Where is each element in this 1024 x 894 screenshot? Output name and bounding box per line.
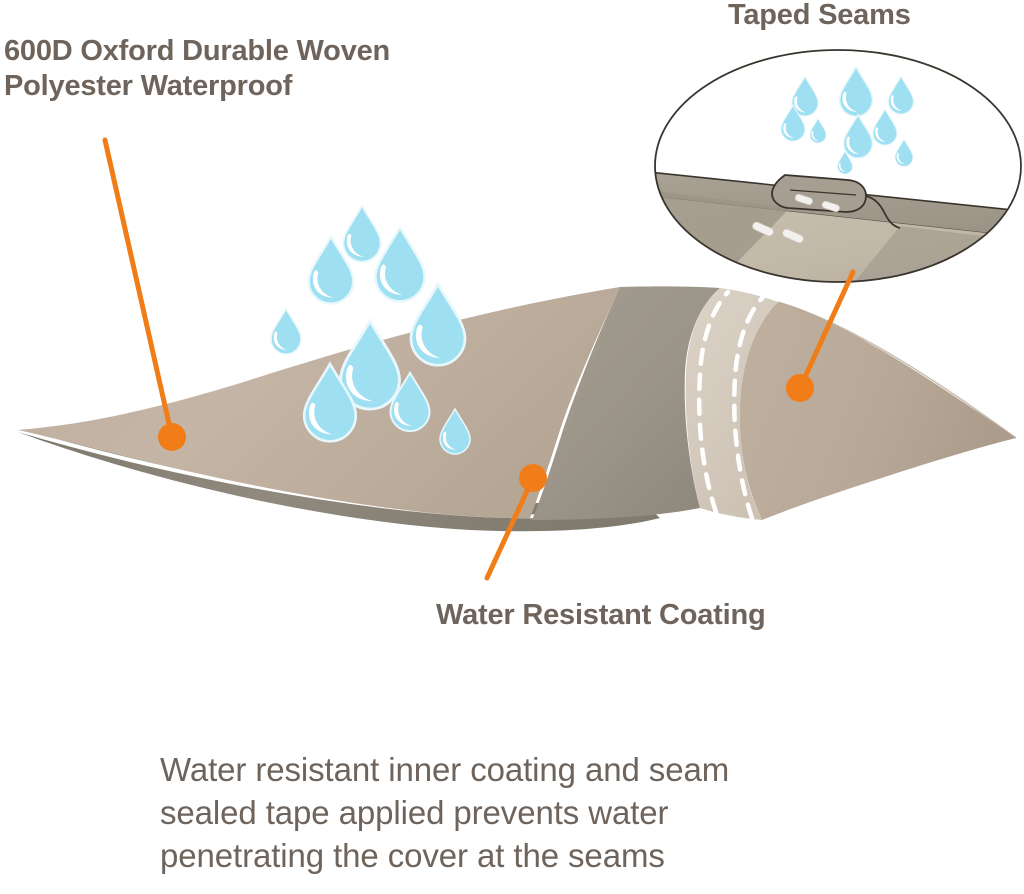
callout-dot [519, 464, 547, 492]
callout-line [105, 140, 172, 437]
fabric-heading: 600D Oxford Durable Woven Polyester Wate… [4, 34, 504, 105]
callout-dot [786, 374, 814, 402]
description-caption: Water resistant inner coating and seam s… [160, 748, 920, 878]
water-drop [411, 284, 465, 365]
seam-fold-hook [772, 175, 866, 212]
water-drop [343, 206, 380, 262]
callout-dot [158, 423, 186, 451]
taped-seams-heading: Taped Seams [728, 0, 1018, 33]
water-drop [271, 309, 301, 354]
water-resistant-coating-label: Water Resistant Coating [436, 598, 866, 633]
fabric-right-wing [740, 302, 1016, 520]
water-drop [375, 228, 424, 302]
infographic-canvas: 600D Oxford Durable Woven Polyester Wate… [0, 0, 1024, 894]
taped-seam-detail-circle [648, 45, 1024, 300]
